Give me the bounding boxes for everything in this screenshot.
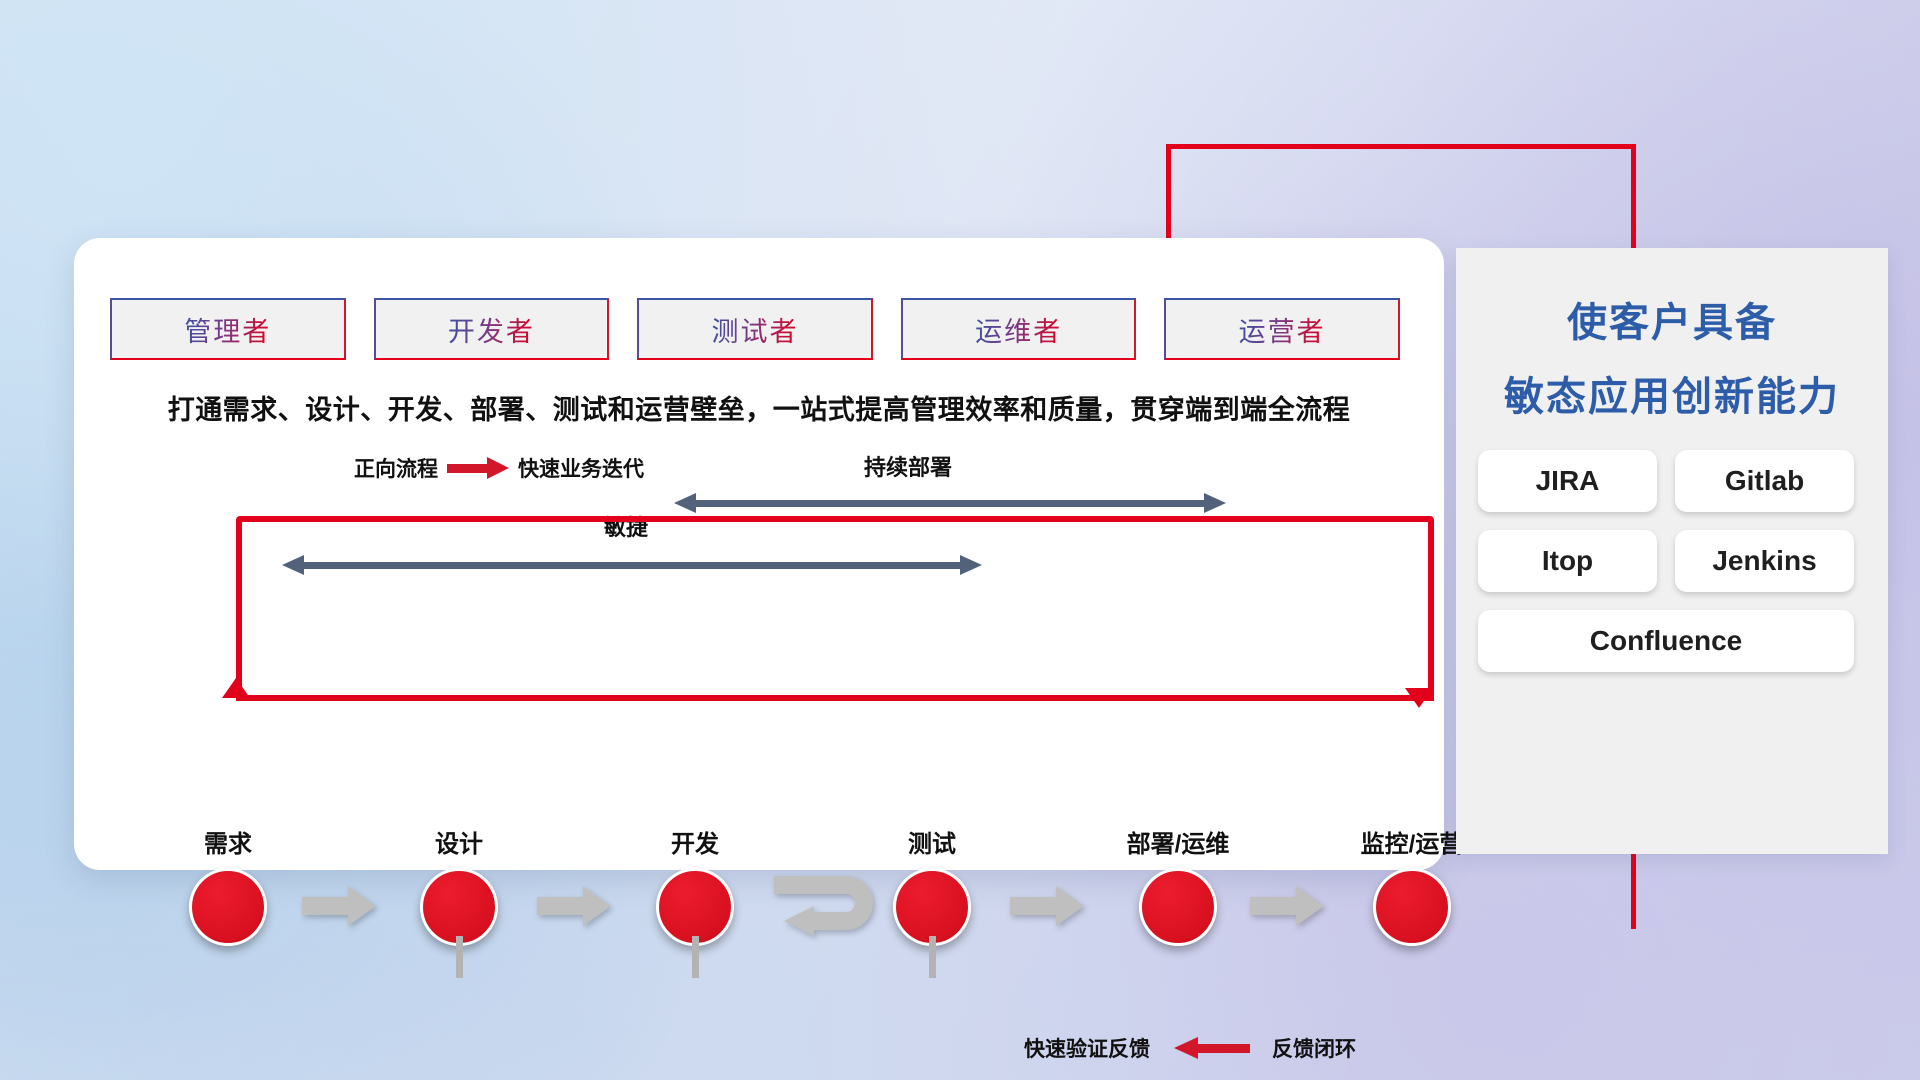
- node-deploy-ops[interactable]: [1139, 868, 1217, 946]
- role-box-operations[interactable]: 运营者: [1164, 298, 1400, 360]
- role-box-tester[interactable]: 测试者: [637, 298, 873, 360]
- tagline-text: 打通需求、设计、开发、部署、测试和运营壁垒，一站式提高管理效率和质量，贯穿端到端…: [74, 388, 1444, 427]
- node-label-requirements: 需求: [204, 824, 252, 859]
- role-label: 运维者: [975, 310, 1062, 349]
- tool-pill-jenkins[interactable]: Jenkins: [1675, 530, 1854, 592]
- legend-feedback-loop: 快速验证反馈 反馈闭环: [1024, 1033, 1356, 1063]
- node-requirements[interactable]: [189, 868, 267, 946]
- panel-heading-line2: 敏态应用创新能力: [1456, 364, 1888, 422]
- arrow-right-red-icon: [447, 457, 509, 479]
- arrow-bar: [694, 500, 1206, 507]
- arrow-head-right-icon: [1204, 493, 1226, 513]
- tool-pill-jira[interactable]: JIRA: [1478, 450, 1657, 512]
- arrow-right-gray-icon: [302, 886, 376, 926]
- main-diagram-card: 管理者 开发者 测试者 运维者 运营者 打通需求、设计、开发、部署、测试和运营壁…: [74, 238, 1444, 870]
- role-box-row: 管理者 开发者 测试者 运维者 运营者: [110, 298, 1400, 360]
- role-box-ops[interactable]: 运维者: [901, 298, 1137, 360]
- node-label-deploy-ops: 部署/运维: [1127, 824, 1230, 859]
- value-proposition-panel: 使客户具备 敏态应用创新能力 JIRA Gitlab Itop Jenkins …: [1456, 248, 1888, 854]
- role-label: 开发者: [448, 310, 535, 349]
- node-label-testing: 测试: [908, 824, 956, 859]
- node-stem-design: [456, 936, 463, 978]
- loop-arrowhead-down-icon: [1405, 688, 1433, 708]
- role-label: 测试者: [711, 310, 798, 349]
- role-label: 运营者: [1239, 310, 1326, 349]
- span-label-continuous-deploy: 持续部署: [864, 450, 952, 482]
- node-stem-development: [692, 936, 699, 978]
- node-development[interactable]: [656, 868, 734, 946]
- legend-forward-source-label: 正向流程: [354, 453, 438, 483]
- node-label-design: 设计: [435, 824, 483, 859]
- tool-pill-confluence[interactable]: Confluence: [1478, 610, 1854, 672]
- node-design[interactable]: [420, 868, 498, 946]
- legend-feedback-target-label: 快速验证反馈: [1024, 1033, 1150, 1063]
- node-stem-testing: [929, 936, 936, 978]
- node-label-monitor-operations: 监控/运营: [1361, 824, 1464, 859]
- panel-heading-line1: 使客户具备: [1456, 290, 1888, 348]
- role-box-developer[interactable]: 开发者: [374, 298, 610, 360]
- tool-pill-gitlab[interactable]: Gitlab: [1675, 450, 1854, 512]
- role-box-manager[interactable]: 管理者: [110, 298, 346, 360]
- arrow-head-left-icon: [674, 493, 696, 513]
- loop-arrowhead-up-icon: [222, 678, 250, 698]
- arrow-uturn-loop-gray-icon: [772, 874, 884, 936]
- node-testing[interactable]: [893, 868, 971, 946]
- arrow-right-gray-icon: [1010, 886, 1084, 926]
- legend-forward-flow: 正向流程 快速业务迭代: [354, 453, 644, 483]
- node-label-development: 开发: [671, 824, 719, 859]
- span-arrow-continuous-deploy: [674, 496, 1226, 510]
- pipeline-track: 需求 设计 开发 测试 部署/运维 监控/运营: [182, 858, 1502, 978]
- legend-forward-target-label: 快速业务迭代: [518, 453, 644, 483]
- tool-pill-itop[interactable]: Itop: [1478, 530, 1657, 592]
- node-monitor-operations[interactable]: [1373, 868, 1451, 946]
- red-cycle-loop: [236, 516, 1434, 701]
- arrow-right-gray-icon: [537, 886, 611, 926]
- role-label: 管理者: [184, 310, 271, 349]
- tool-pill-grid: JIRA Gitlab Itop Jenkins Confluence: [1456, 422, 1888, 672]
- arrow-right-gray-icon: [1250, 886, 1324, 926]
- arrow-left-red-icon: [1172, 1037, 1250, 1059]
- legend-feedback-source-label: 反馈闭环: [1272, 1033, 1356, 1063]
